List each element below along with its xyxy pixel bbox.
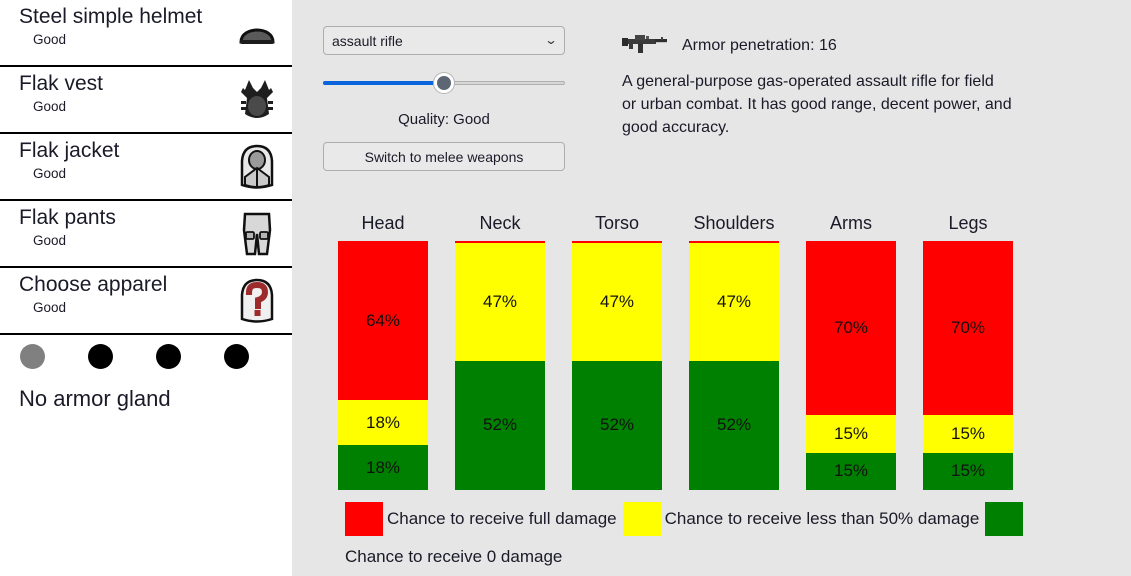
bar-segment: 47% bbox=[689, 243, 779, 360]
bar-stack: 47%52% bbox=[689, 241, 779, 490]
bar-segment: 18% bbox=[338, 400, 428, 445]
bar-column: Shoulders47%52% bbox=[689, 241, 779, 490]
legend-swatch bbox=[985, 502, 1023, 536]
bar-stack: 70%15%15% bbox=[806, 241, 896, 490]
bar-column: Head64%18%18% bbox=[338, 241, 428, 490]
bar-segment: 64% bbox=[338, 241, 428, 400]
apparel-name: Choose apparel bbox=[19, 272, 167, 298]
armor-gland-dot[interactable] bbox=[224, 344, 249, 369]
bar-segment: 52% bbox=[689, 361, 779, 490]
main-panel: assault rifle ⌄ Quality: Good Switch to … bbox=[292, 0, 1131, 576]
bar-segment-label: 64% bbox=[366, 311, 400, 331]
apparel-quality: Good bbox=[33, 166, 119, 181]
legend-label: Chance to receive full damage bbox=[387, 500, 617, 538]
apparel-name: Flak vest bbox=[19, 71, 103, 97]
legend-swatch bbox=[345, 502, 383, 536]
armor-gland-dots bbox=[0, 340, 292, 376]
flak-vest-icon bbox=[234, 74, 280, 126]
apparel-row[interactable]: Flak jacketGood bbox=[0, 134, 292, 201]
bar-segment: 15% bbox=[923, 453, 1013, 490]
bar-segment-label: 52% bbox=[717, 415, 751, 435]
legend-label: Chance to receive 0 damage bbox=[345, 538, 562, 576]
bar-segment: 15% bbox=[806, 415, 896, 452]
legend-swatch bbox=[623, 502, 661, 536]
bar-column-header: Arms bbox=[806, 213, 896, 234]
bar-column: Legs70%15%15% bbox=[923, 241, 1013, 490]
apparel-text: Flak jacketGood bbox=[19, 138, 119, 181]
apparel-text: Choose apparelGood bbox=[19, 272, 167, 315]
apparel-row[interactable]: Steel simple helmetGood bbox=[0, 0, 292, 67]
flak-jacket-icon bbox=[234, 141, 280, 193]
bar-segment-label: 18% bbox=[366, 413, 400, 433]
bar-segment: 70% bbox=[806, 241, 896, 415]
damage-chart: Head64%18%18%Neck47%52%Torso47%52%Should… bbox=[292, 0, 1131, 576]
bar-segment: 18% bbox=[338, 445, 428, 490]
bar-stack: 47%52% bbox=[455, 241, 545, 490]
bar-segment: 52% bbox=[572, 361, 662, 490]
apparel-row[interactable]: Choose apparelGood bbox=[0, 268, 292, 335]
apparel-text: Steel simple helmetGood bbox=[19, 4, 202, 47]
apparel-row[interactable]: Flak pantsGood bbox=[0, 201, 292, 268]
apparel-text: Flak pantsGood bbox=[19, 205, 116, 248]
bar-segment-label: 52% bbox=[483, 415, 517, 435]
armor-gland-dot[interactable] bbox=[156, 344, 181, 369]
bar-segment-label: 15% bbox=[951, 461, 985, 481]
legend-label: Chance to receive less than 50% damage bbox=[665, 500, 980, 538]
app-root: Steel simple helmetGoodFlak vestGoodFlak… bbox=[0, 0, 1131, 576]
bar-segment: 52% bbox=[455, 361, 545, 490]
bar-stack: 47%52% bbox=[572, 241, 662, 490]
apparel-list: Steel simple helmetGoodFlak vestGoodFlak… bbox=[0, 0, 292, 335]
apparel-quality: Good bbox=[33, 99, 103, 114]
bar-column-header: Neck bbox=[455, 213, 545, 234]
apparel-name: Flak pants bbox=[19, 205, 116, 231]
apparel-quality: Good bbox=[33, 300, 167, 315]
armor-gland-dot[interactable] bbox=[88, 344, 113, 369]
bar-segment-label: 47% bbox=[483, 292, 517, 312]
chart-legend: Chance to receive full damageChance to r… bbox=[345, 500, 1045, 576]
helmet-icon bbox=[234, 7, 280, 59]
armor-gland-label: No armor gland bbox=[19, 386, 171, 412]
bar-stack: 64%18%18% bbox=[338, 241, 428, 490]
bar-segment-label: 15% bbox=[951, 424, 985, 444]
bar-segment-label: 15% bbox=[834, 424, 868, 444]
bar-column: Torso47%52% bbox=[572, 241, 662, 490]
bar-segment-label: 15% bbox=[834, 461, 868, 481]
bar-segment-label: 70% bbox=[834, 318, 868, 338]
bar-column-header: Torso bbox=[572, 213, 662, 234]
bar-segment: 47% bbox=[572, 243, 662, 360]
bar-stack: 70%15%15% bbox=[923, 241, 1013, 490]
apparel-row[interactable]: Flak vestGood bbox=[0, 67, 292, 134]
apparel-name: Flak jacket bbox=[19, 138, 119, 164]
armor-gland-dot[interactable] bbox=[20, 344, 45, 369]
bar-column-header: Shoulders bbox=[689, 213, 779, 234]
apparel-sidebar: Steel simple helmetGoodFlak vestGoodFlak… bbox=[0, 0, 292, 576]
bar-column-header: Legs bbox=[923, 213, 1013, 234]
bar-segment: 15% bbox=[806, 453, 896, 490]
bar-column: Arms70%15%15% bbox=[806, 241, 896, 490]
apparel-quality: Good bbox=[33, 233, 116, 248]
bar-segment-label: 47% bbox=[717, 292, 751, 312]
apparel-quality: Good bbox=[33, 32, 202, 47]
bar-segment: 15% bbox=[923, 415, 1013, 452]
bar-segment-label: 70% bbox=[951, 318, 985, 338]
bar-column: Neck47%52% bbox=[455, 241, 545, 490]
bar-segment: 70% bbox=[923, 241, 1013, 415]
bar-segment-label: 18% bbox=[366, 458, 400, 478]
bar-segment-label: 52% bbox=[600, 415, 634, 435]
choose-apparel-icon bbox=[234, 275, 280, 327]
flak-pants-icon bbox=[234, 208, 280, 260]
bar-segment: 47% bbox=[455, 243, 545, 360]
apparel-name: Steel simple helmet bbox=[19, 4, 202, 30]
bar-column-header: Head bbox=[338, 213, 428, 234]
bar-segment-label: 47% bbox=[600, 292, 634, 312]
apparel-text: Flak vestGood bbox=[19, 71, 103, 114]
